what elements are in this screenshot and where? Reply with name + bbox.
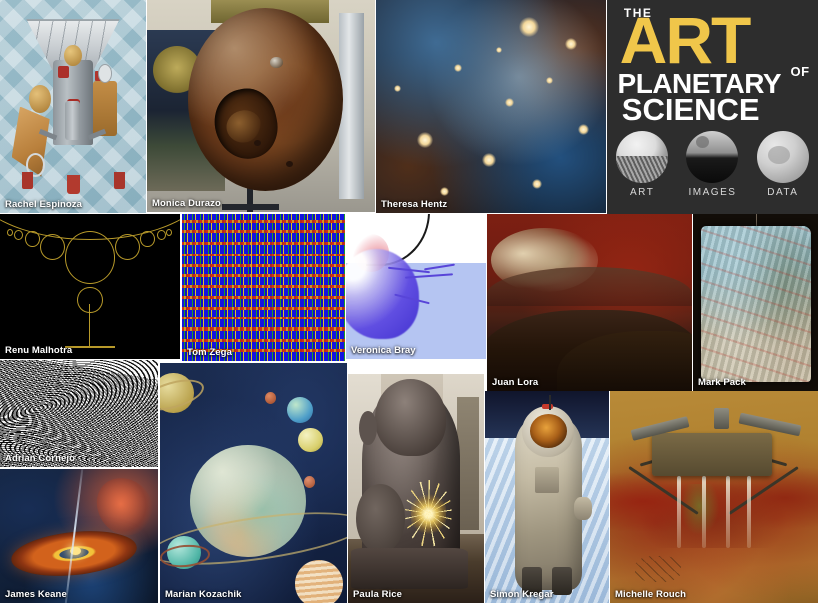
ceramic-relief-tile-photo xyxy=(693,214,818,391)
artwork-tile-theresa-hentz[interactable]: Theresa Hentz xyxy=(376,0,606,213)
zega-row-stack xyxy=(182,214,345,361)
poster-science-text: SCIENCE xyxy=(622,96,760,124)
moon-data-icon xyxy=(757,131,809,183)
poster-moon-data: DATA xyxy=(753,131,812,198)
artwork-tile-james-keane[interactable]: James Keane xyxy=(0,469,158,603)
moire-line-artwork xyxy=(0,360,158,467)
artwork-tile-renu-malhotra[interactable]: Renu Malhotra xyxy=(0,214,180,359)
artwork-tile-adrian-cornejo[interactable]: Adrian Cornejo xyxy=(0,360,158,467)
astronaut-painting xyxy=(485,391,609,603)
artwork-tile-monica-durazo[interactable]: Monica Durazo xyxy=(147,0,375,212)
artwork-tile-simon-kregar[interactable]: Simon Kregar xyxy=(485,391,609,603)
moon-label-images: IMAGES xyxy=(683,187,742,198)
wooden-sphere-sculpture-photo xyxy=(147,0,375,212)
poster-moon-images: IMAGES xyxy=(683,131,742,198)
nebula-painting xyxy=(376,0,606,213)
artwork-tile-tom-zega[interactable]: Tom Zega xyxy=(182,214,345,361)
poster-moon-art: ART xyxy=(613,131,672,198)
artwork-tile-juan-lora[interactable]: Juan Lora xyxy=(487,214,692,391)
artwork-tile-veronica-bray[interactable]: Veronica Bray xyxy=(346,214,486,359)
clay-figure-sculpture-photo xyxy=(348,374,484,603)
red-sky-landscape-painting xyxy=(487,214,692,391)
event-poster-tile[interactable]: THE ART OF PLANETARY SCIENCE ART IMAGES … xyxy=(607,0,818,214)
spectral-data-visualization xyxy=(182,214,345,361)
poster-art-wordmark: ART xyxy=(620,13,750,67)
orbital-fractal-diagram xyxy=(0,214,180,359)
gallery-mosaic: Rachel Espinoza Monica Durazo xyxy=(0,0,818,603)
artwork-tile-rachel-espinoza[interactable]: Rachel Espinoza xyxy=(0,0,146,213)
solar-system-planets-painting xyxy=(160,363,347,603)
black-hole-painting xyxy=(0,469,158,603)
artwork-tile-paula-rice[interactable]: Paula Rice xyxy=(348,374,484,603)
moon-sketch-icon xyxy=(616,131,668,183)
artwork-tile-mark-pack[interactable]: Mark Pack xyxy=(693,214,818,391)
moon-label-art: ART xyxy=(613,187,672,198)
artwork-tile-michelle-rouch[interactable]: Michelle Rouch xyxy=(610,391,818,603)
artwork-tile-marian-kozachik[interactable]: Marian Kozachik xyxy=(160,363,347,603)
glowing-burst xyxy=(411,489,446,539)
mars-lander-painting xyxy=(610,391,818,603)
art-of-planetary-science-poster: THE ART OF PLANETARY SCIENCE ART IMAGES … xyxy=(607,0,818,214)
moon-photo-icon xyxy=(686,131,738,183)
poster-moon-row: ART IMAGES DATA xyxy=(607,131,818,214)
impact-simulation-plot xyxy=(346,214,486,359)
poster-of-text: OF xyxy=(791,64,810,79)
moon-label-data: DATA xyxy=(753,187,812,198)
spacecraft-painting xyxy=(0,0,146,213)
